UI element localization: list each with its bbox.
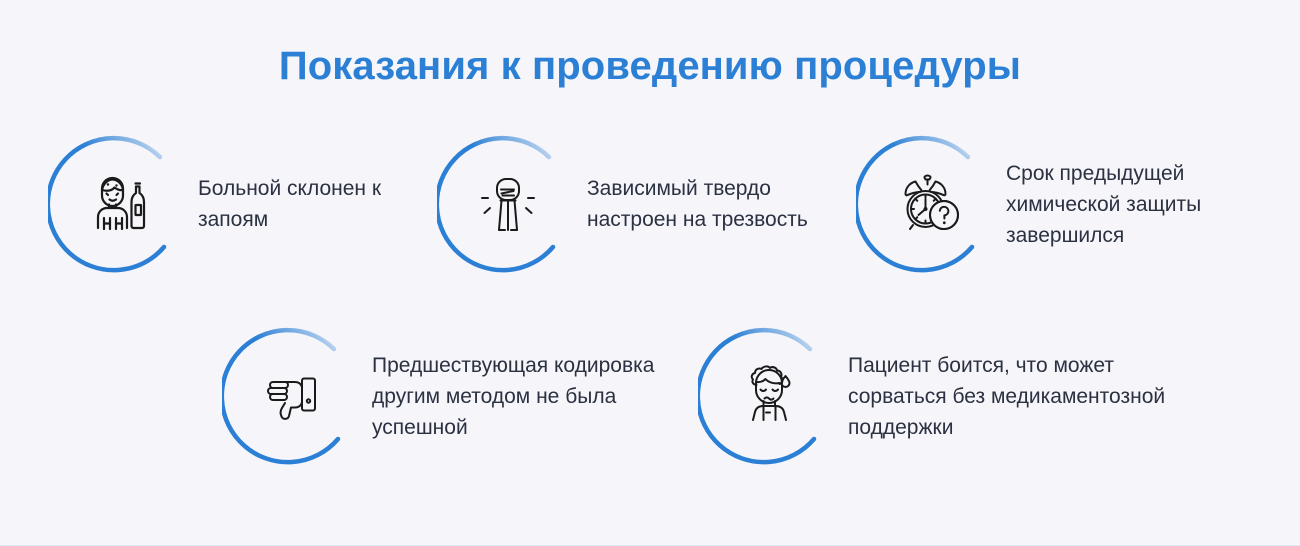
icon-badge-5: [698, 325, 840, 467]
determined-person-icon: [437, 133, 579, 275]
indication-item-3: Срок предыдущей химической защиты заверш…: [856, 133, 1286, 275]
indication-item-2: Зависимый твердо настроен на трезвость: [437, 133, 837, 275]
indication-text-1: Больной склонен к запоям: [190, 173, 428, 235]
worried-person-icon: [698, 325, 840, 467]
indication-text-4: Предшествующая кодировка другим методом …: [364, 350, 692, 443]
person-with-bottle-icon: [48, 133, 190, 275]
indication-text-5: Пациент боится, что может сорваться без …: [840, 350, 1208, 443]
icon-badge-2: [437, 133, 579, 275]
infographic-page: Показания к проведению процедуры: [0, 0, 1300, 546]
page-title: Показания к проведению процедуры: [0, 44, 1300, 89]
thumbs-down-icon: [222, 325, 364, 467]
alarm-clock-question-icon: [856, 133, 998, 275]
indication-item-1: Больной склонен к запоям: [48, 133, 448, 275]
indication-text-3: Срок предыдущей химической защиты заверш…: [998, 158, 1266, 251]
icon-badge-4: [222, 325, 364, 467]
icon-badge-3: [856, 133, 998, 275]
indication-item-5: Пациент боится, что может сорваться без …: [698, 325, 1218, 467]
indication-text-2: Зависимый твердо настроен на трезвость: [579, 173, 817, 235]
indication-item-4: Предшествующая кодировка другим методом …: [222, 325, 692, 467]
icon-badge-1: [48, 133, 190, 275]
